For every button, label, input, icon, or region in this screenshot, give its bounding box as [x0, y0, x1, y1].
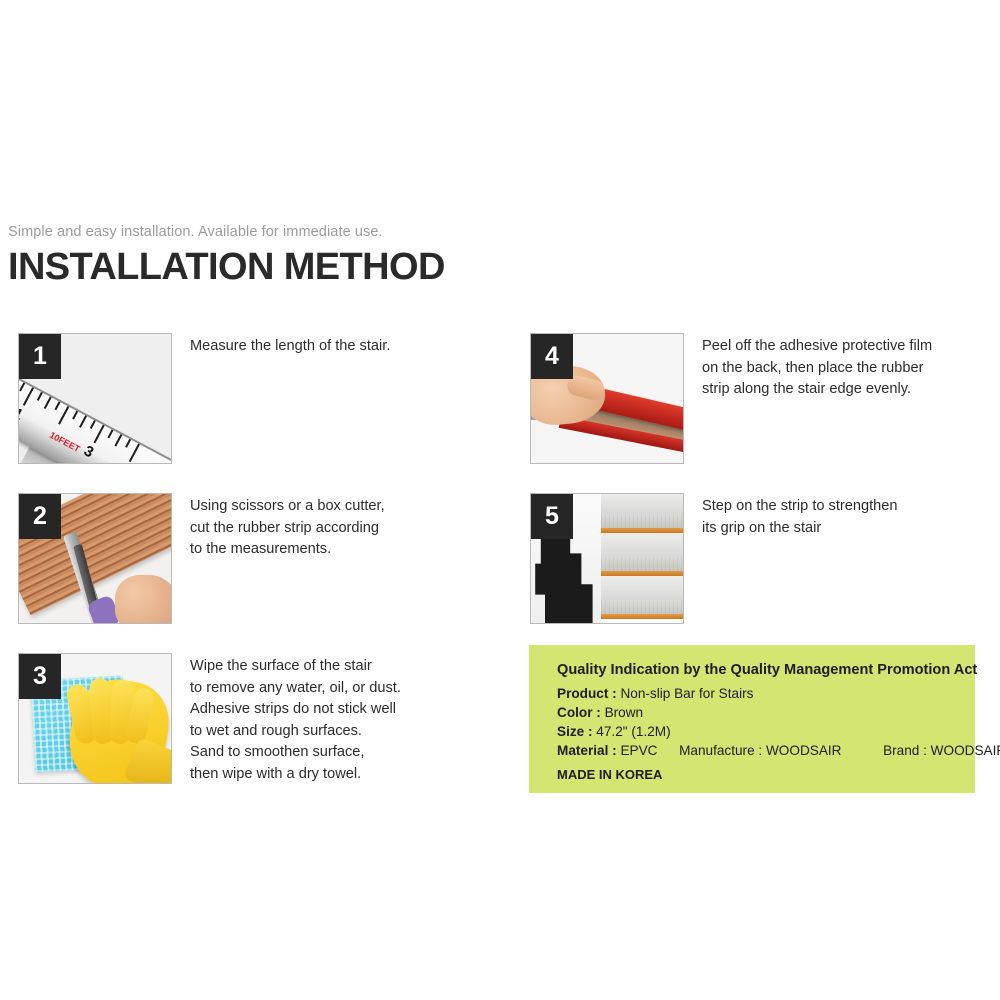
quality-indication-panel: Quality Indication by the Quality Manage…: [529, 645, 975, 793]
page-title: INSTALLATION METHOD: [8, 246, 445, 289]
step-text-line: Sand to smoothen surface,: [190, 742, 520, 764]
spec-label-product: Product :: [557, 686, 617, 701]
spec-label-manufacture: Manufacture :: [679, 743, 762, 758]
hand: [115, 575, 171, 623]
step-text-line: Step on the strip to strengthen: [702, 496, 1000, 518]
tape-tick: [54, 401, 60, 410]
step-text-line: on the back, then place the rubber: [702, 358, 1000, 380]
step-2-photo: 2: [18, 493, 172, 624]
step-number-badge: 2: [19, 494, 61, 539]
spec-value-material: EPVC: [620, 743, 657, 758]
step-5-text: Step on the strip to strengthen its grip…: [702, 496, 1000, 539]
tape-tick: [58, 406, 69, 424]
tape-tick: [23, 387, 34, 405]
step-number-badge: 3: [19, 654, 61, 699]
tape-tick: [19, 383, 25, 392]
step-text-line: Peel off the adhesive protective film: [702, 336, 1000, 358]
step-5-photo: 5: [530, 493, 684, 624]
spec-row-product: Product : Non-slip Bar for Stairs: [557, 686, 753, 701]
tape-tick: [107, 429, 113, 438]
spec-row-origin: MADE IN KOREA: [557, 767, 662, 782]
spec-label-size: Size :: [557, 724, 593, 739]
step-3-photo: 3: [18, 653, 172, 784]
step-text-line: Measure the length of the stair.: [190, 336, 520, 358]
tape-tick: [129, 444, 140, 462]
step-text-line: Using scissors or a box cutter,: [190, 496, 520, 518]
tape-tick: [79, 415, 87, 427]
tape-tick: [114, 434, 122, 446]
tape-red-label-metric: 3M: [97, 461, 113, 463]
tape-number: 1: [19, 405, 26, 424]
tape-tick: [37, 392, 43, 401]
step-text-line: strip along the stair edge evenly.: [702, 379, 1000, 401]
step-3-text: Wipe the surface of the stair to remove …: [190, 656, 520, 785]
step-number-badge: 5: [531, 494, 573, 539]
spec-label-material: Material :: [557, 743, 617, 758]
step-text-line: to wet and rough surfaces.: [190, 721, 520, 743]
spec-row-size: Size : 47.2" (1.2M): [557, 724, 671, 739]
step-2-text: Using scissors or a box cutter, cut the …: [190, 496, 520, 561]
step-text-line: Adhesive strips do not stick well: [190, 699, 520, 721]
tape-tick: [90, 420, 96, 429]
step-text-line: cut the rubber strip according: [190, 518, 520, 540]
spec-label-color: Color :: [557, 705, 601, 720]
spec-value-product: Non-slip Bar for Stairs: [620, 686, 753, 701]
page-subtitle: Simple and easy installation. Available …: [8, 224, 383, 240]
installation-method-infographic: Simple and easy installation. Available …: [0, 0, 1000, 1000]
step-text-line: to remove any water, oil, or dust.: [190, 678, 520, 700]
spec-label-brand: Brand :: [883, 743, 927, 758]
spec-value-color: Brown: [605, 705, 644, 720]
spec-row-material: Material : EPVC Manufacture : WOODSAIR B…: [557, 743, 1000, 758]
tape-red-label: 10FEET: [48, 430, 82, 454]
spec-value-size: 47.2" (1.2M): [596, 724, 670, 739]
step-text-line: Wipe the surface of the stair: [190, 656, 520, 678]
step-number-badge: 4: [531, 334, 573, 379]
spec-value-manufacture: WOODSAIR: [766, 743, 842, 758]
spec-value-brand: WOODSAIR: [931, 743, 1000, 758]
step-1-text: Measure the length of the stair.: [190, 336, 520, 358]
step-4-photo: 4: [530, 333, 684, 464]
step-number-badge: 1: [19, 334, 61, 379]
step-4-text: Peel off the adhesive protective film on…: [702, 336, 1000, 401]
step-1-photo: 1 3 2 10FEET 3M 1: [18, 333, 172, 464]
tape-tick: [72, 411, 78, 420]
tape-tick: [125, 439, 131, 448]
step-text-line: its grip on the stair: [702, 518, 1000, 540]
step-text-line: to the measurements.: [190, 539, 520, 561]
spec-panel-title: Quality Indication by the Quality Manage…: [557, 662, 977, 678]
tape-tick: [44, 397, 52, 409]
tape-number: 3: [81, 442, 96, 461]
step-text-line: then wipe with a dry towel.: [190, 764, 520, 786]
tape-tick: [93, 425, 104, 443]
spec-row-color: Color : Brown: [557, 705, 643, 720]
